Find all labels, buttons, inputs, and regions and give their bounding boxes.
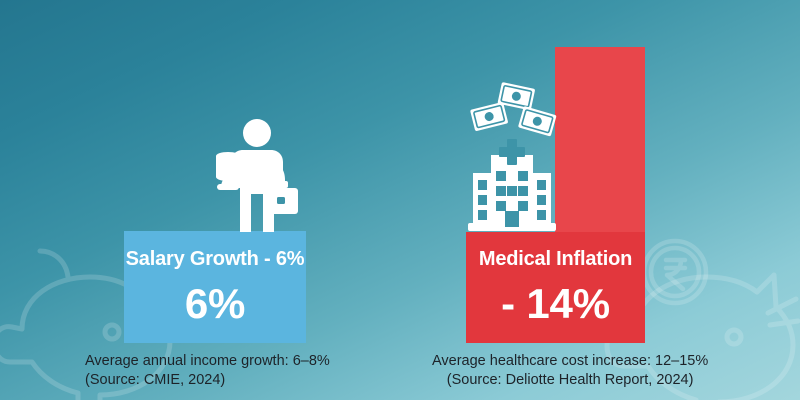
rupee-coin-watermark bbox=[638, 235, 712, 314]
medical-inflation-bar-value: - 14% bbox=[466, 280, 645, 328]
salary-growth-caption: Average annual income growth: 6–8% (Sour… bbox=[85, 352, 330, 390]
medical-inflation-caption-source: (Source: Deliotte Health Report, 2024) bbox=[432, 371, 708, 390]
salary-growth-caption-source: (Source: CMIE, 2024) bbox=[85, 371, 330, 390]
medical-inflation-bar-stem bbox=[555, 47, 645, 233]
medical-inflation-caption: Average healthcare cost increase: 12–15%… bbox=[432, 352, 708, 390]
infographic-canvas: Salary Growth - 6% 6% Medical Inflation … bbox=[0, 0, 800, 400]
businessman-with-coins-and-briefcase-icon bbox=[207, 118, 303, 239]
salary-growth-bar-value: 6% bbox=[124, 280, 306, 328]
medical-inflation-caption-line1: Average healthcare cost increase: 12–15% bbox=[432, 352, 708, 371]
salary-growth-caption-line1: Average annual income growth: 6–8% bbox=[85, 352, 330, 371]
flying-banknotes-icon bbox=[470, 82, 562, 153]
salary-growth-bar-title: Salary Growth - 6% bbox=[124, 248, 306, 271]
medical-inflation-bar-title: Medical Inflation bbox=[466, 248, 645, 271]
